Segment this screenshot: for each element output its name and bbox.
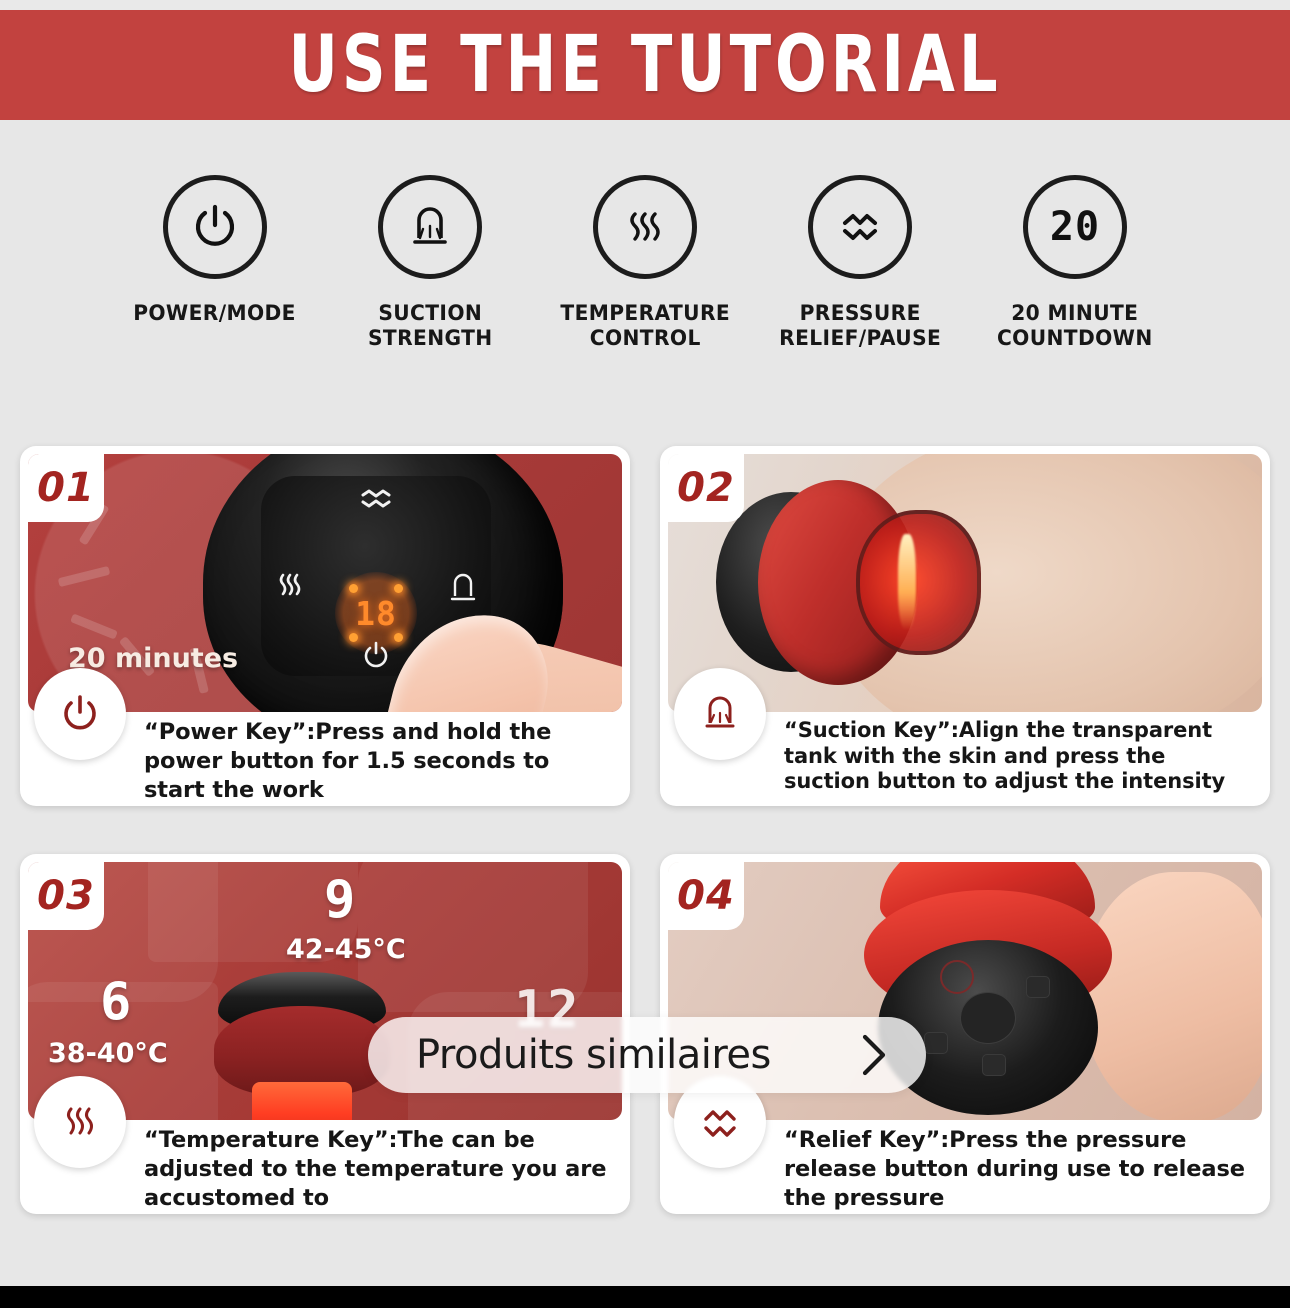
page-title: USE THE TUTORIAL — [289, 20, 1002, 110]
title-band: USE THE TUTORIAL — [0, 10, 1290, 120]
tutorial-card-01[interactable]: 01 — [20, 446, 630, 806]
transparent-tank — [856, 510, 981, 655]
tutorial-card-grid: 01 — [20, 446, 1270, 1236]
heat-waves-icon — [57, 1099, 103, 1145]
display-value: 18 — [355, 594, 397, 633]
step-number: 04 — [677, 873, 735, 919]
led-dot — [394, 633, 403, 642]
feature-label-suction: SUCTION STRENGTH — [368, 301, 493, 352]
led-dot — [394, 584, 403, 593]
heated-tank — [252, 1082, 352, 1120]
step-number: 02 — [677, 465, 735, 511]
device-heat-icon — [277, 572, 303, 602]
suction-icon-ring — [378, 175, 482, 279]
step-badge-03: 03 — [28, 862, 104, 930]
zigzag-icon — [697, 1099, 743, 1145]
feature-label-power: POWER/MODE — [134, 301, 297, 326]
feature-pressure-relief: PRESSURE RELIEF/PAUSE — [753, 175, 968, 352]
device-power-button — [982, 1054, 1006, 1076]
device-graphic-03 — [206, 972, 396, 1120]
feature-label-line2: COUNTDOWN — [997, 326, 1153, 351]
tutorial-page: USE THE TUTORIAL POWER/MODE — [0, 0, 1290, 1308]
feature-label-line2: CONTROL — [589, 326, 700, 351]
countdown-20-icon: 20 — [1050, 204, 1100, 250]
power-icon — [57, 691, 103, 737]
heat-waves-icon-ring — [593, 175, 697, 279]
step-number: 03 — [37, 873, 95, 919]
cupping-device-graphic — [716, 474, 986, 689]
step-number: 01 — [37, 465, 95, 511]
similar-products-pill[interactable]: Produits similaires — [368, 1017, 926, 1093]
zigzag-icon — [833, 200, 887, 254]
tutorial-card-02[interactable]: 02 — [660, 446, 1270, 806]
power-icon-ring — [163, 175, 267, 279]
step-badge-02: 02 — [668, 454, 744, 522]
feature-label-line1: TEMPERATURE — [560, 301, 730, 326]
temp-low-digit: 6 — [100, 972, 133, 1032]
feature-label-countdown: 20 MINUTE COUNTDOWN — [997, 301, 1153, 352]
feature-temperature-control: TEMPERATURE CONTROL — [538, 175, 753, 352]
caption-text-02: “Suction Key”:Align the transparent tank… — [784, 718, 1262, 795]
countdown-20-icon-ring: 20 — [1023, 175, 1127, 279]
caption-text-04: “Relief Key”:Press the pressure release … — [784, 1126, 1262, 1212]
chevron-right-icon[interactable] — [856, 1030, 890, 1080]
step-badge-01: 01 — [28, 454, 104, 522]
feature-label-line1: 20 MINUTE — [1011, 301, 1138, 326]
led-dot — [349, 633, 358, 642]
feature-icon-row: POWER/MODE SUCTION STRENGTH — [0, 175, 1290, 380]
feature-label-line1: PRESSURE — [799, 301, 920, 326]
heat-waves-icon — [618, 200, 672, 254]
power-icon — [188, 200, 242, 254]
device-suction-icon — [449, 572, 477, 602]
feature-label-line2: STRENGTH — [368, 326, 493, 351]
feature-power-mode: POWER/MODE — [108, 175, 323, 326]
card-photo-01: 18 20 minutes — [28, 454, 622, 712]
caption-suction-icon-badge — [674, 668, 766, 760]
feature-label-line2: RELIEF/PAUSE — [779, 326, 941, 351]
caption-heat-icon-badge — [34, 1076, 126, 1168]
temp-low-label: 38-40°C — [48, 1038, 168, 1069]
feature-label-pressure: PRESSURE RELIEF/PAUSE — [779, 301, 941, 352]
red-light-glow — [898, 534, 916, 630]
device-mode-button — [924, 1032, 948, 1054]
caption-row-02: “Suction Key”:Align the transparent tank… — [668, 712, 1262, 804]
step-badge-04: 04 — [668, 862, 744, 930]
suction-icon — [697, 691, 743, 737]
device-power-icon — [362, 640, 390, 668]
device-suction-button — [1026, 976, 1050, 998]
feature-label-line1: POWER/MODE — [134, 301, 297, 326]
card-photo-02 — [668, 454, 1262, 712]
feature-label-temperature: TEMPERATURE CONTROL — [560, 301, 730, 352]
caption-row-01: “Power Key”:Press and hold the power but… — [28, 712, 622, 804]
suction-icon — [403, 200, 457, 254]
caption-text-01: “Power Key”:Press and hold the power but… — [144, 718, 622, 804]
caption-row-03: “Temperature Key”:The can be adjusted to… — [28, 1120, 622, 1212]
caption-text-03: “Temperature Key”:The can be adjusted to… — [144, 1126, 622, 1212]
feature-suction-strength: SUCTION STRENGTH — [323, 175, 538, 352]
feature-20-minute-countdown: 20 20 MINUTE COUNTDOWN — [968, 175, 1183, 352]
similar-products-label: Produits similaires — [416, 1032, 771, 1078]
top-strip — [0, 0, 1290, 10]
temp-high-digit: 9 — [324, 870, 357, 930]
caption-row-04: “Relief Key”:Press the pressure release … — [668, 1120, 1262, 1212]
zigzag-icon-ring — [808, 175, 912, 279]
caption-power-icon-badge — [34, 668, 126, 760]
device-center-button — [960, 992, 1016, 1044]
device-relief-button-highlight — [940, 960, 974, 994]
temp-high-label: 42-45°C — [286, 934, 406, 965]
device-zigzag-icon — [360, 488, 392, 508]
led-dot — [349, 584, 358, 593]
bottom-bar — [0, 1286, 1290, 1308]
feature-label-line1: SUCTION — [378, 301, 482, 326]
